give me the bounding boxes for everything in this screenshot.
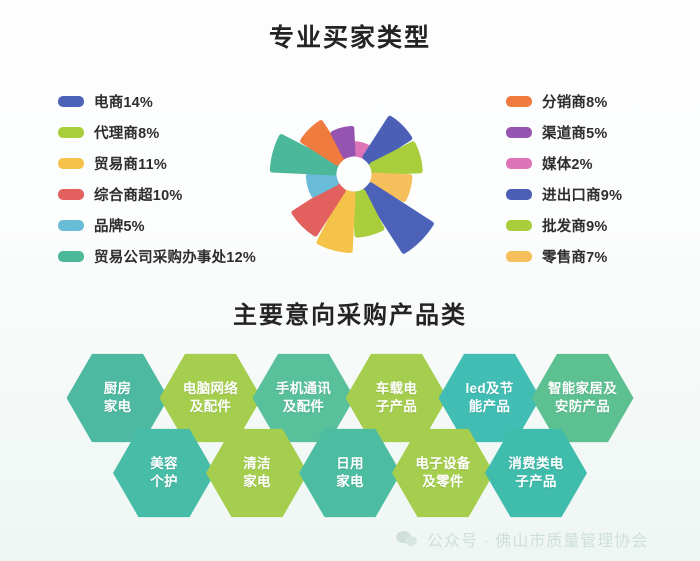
legend-swatch-icon bbox=[506, 251, 532, 262]
legend-label: 分销商8% bbox=[542, 91, 607, 112]
legend-swatch-icon bbox=[58, 96, 84, 107]
legend-label: 进出口商9% bbox=[542, 184, 622, 205]
hexagon-label-line: 手机通讯 bbox=[276, 380, 331, 398]
legend-swatch-icon bbox=[506, 158, 532, 169]
hexagon-label-line: 安防产品 bbox=[548, 398, 617, 416]
legend-label: 贸易商11% bbox=[94, 153, 167, 174]
legend-label: 渠道商5% bbox=[542, 122, 607, 143]
page-title-product-categories: 主要意向采购产品类 bbox=[0, 295, 700, 330]
legend-label: 电商14% bbox=[94, 91, 153, 112]
hexagon-label-line: 个护 bbox=[150, 473, 178, 491]
legend-label: 贸易公司采购办事处12% bbox=[94, 246, 256, 267]
hexagon-label-line: 能产品 bbox=[465, 398, 513, 416]
legend-swatch-icon bbox=[506, 220, 532, 231]
hexagon-label-line: 电脑网络 bbox=[183, 380, 238, 398]
hexagon-grid: 厨房家电电脑网络及配件手机通讯及配件车载电子产品led及节能产品智能家居及安防产… bbox=[0, 352, 700, 512]
hexagon-label-line: 电子设备 bbox=[415, 455, 470, 473]
legend-label: 批发商9% bbox=[542, 215, 607, 236]
hexagon-label-line: 车载电 bbox=[376, 380, 417, 398]
legend-label: 媒体2% bbox=[542, 153, 593, 174]
legend-item: 进出口商9% bbox=[506, 181, 622, 207]
hexagon-label-line: 及配件 bbox=[183, 398, 238, 416]
legend-item: 电商14% bbox=[58, 88, 256, 114]
legend-swatch-icon bbox=[506, 127, 532, 138]
legend-item: 渠道商5% bbox=[506, 119, 622, 145]
footer-text: 公众号 · 佛山市质量管理协会 bbox=[427, 527, 648, 551]
hexagon-label-line: 厨房 bbox=[104, 380, 132, 398]
hexagon-label-line: led及节 bbox=[465, 380, 513, 398]
legend-item: 代理商8% bbox=[58, 119, 256, 145]
legend-item: 媒体2% bbox=[506, 150, 622, 176]
rose-chart bbox=[258, 78, 450, 270]
footer-credit: 公众号 · 佛山市质量管理协会 bbox=[396, 527, 648, 551]
hexagon-label-line: 智能家居及 bbox=[548, 380, 617, 398]
legend-swatch-icon bbox=[58, 251, 84, 262]
legend-swatch-icon bbox=[506, 189, 532, 200]
legend-item: 品牌5% bbox=[58, 212, 256, 238]
legend-item: 零售商7% bbox=[506, 243, 622, 269]
legend-swatch-icon bbox=[58, 127, 84, 138]
legend-swatch-icon bbox=[58, 189, 84, 200]
page-title-buyer-types: 专业买家类型 bbox=[0, 18, 700, 54]
hexagon-label-line: 子产品 bbox=[376, 398, 417, 416]
legend-item: 综合商超10% bbox=[58, 181, 256, 207]
legend-label: 零售商7% bbox=[542, 246, 607, 267]
legend-right: 分销商8% 渠道商5% 媒体2% 进出口商9% 批发商9% 零售商7% bbox=[506, 88, 622, 274]
hexagon-label-line: 家电 bbox=[104, 398, 132, 416]
hexagon-label-line: 美容 bbox=[150, 455, 178, 473]
hexagon-label-line: 及零件 bbox=[415, 473, 470, 491]
legend-item: 分销商8% bbox=[506, 88, 622, 114]
hexagon-label-line: 家电 bbox=[243, 473, 271, 491]
hexagon-label-line: 消费类电 bbox=[508, 455, 563, 473]
hexagon-label-line: 清洁 bbox=[243, 455, 271, 473]
legend-label: 品牌5% bbox=[94, 215, 145, 236]
legend-swatch-icon bbox=[506, 96, 532, 107]
legend-swatch-icon bbox=[58, 220, 84, 231]
legend-label: 综合商超10% bbox=[94, 184, 182, 205]
hexagon-label-line: 子产品 bbox=[508, 473, 563, 491]
legend-left: 电商14% 代理商8% 贸易商11% 综合商超10% 品牌5% 贸易公司采购办事… bbox=[58, 88, 256, 274]
legend-item: 贸易公司采购办事处12% bbox=[58, 243, 256, 269]
hexagon-label-line: 及配件 bbox=[276, 398, 331, 416]
hexagon-label-line: 家电 bbox=[336, 473, 364, 491]
legend-item: 贸易商11% bbox=[58, 150, 256, 176]
legend-item: 批发商9% bbox=[506, 212, 622, 238]
legend-swatch-icon bbox=[58, 158, 84, 169]
rose-chart-svg bbox=[258, 78, 450, 270]
legend-label: 代理商8% bbox=[94, 122, 159, 143]
wechat-icon bbox=[396, 530, 418, 548]
hexagon-label-line: 日用 bbox=[336, 455, 364, 473]
